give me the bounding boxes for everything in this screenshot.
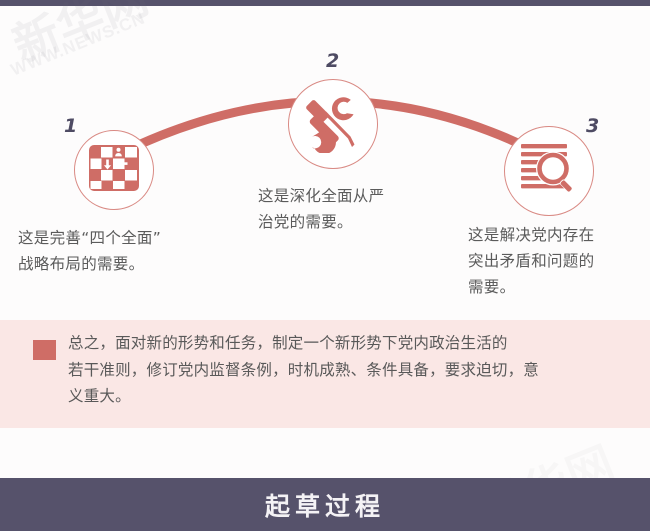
summary-text: 总之，面对新的形势和任务，制定一个新形势下党内政治生活的 若干准则，修订党内监督…: [68, 330, 628, 410]
watermark-brand-cn: 新华网: [2, 0, 157, 75]
watermark-brand-url: WWW.NEWS.CN: [8, 8, 148, 80]
node-1-caption: 这是完善“四个全面” 战略布局的需要。: [18, 225, 233, 277]
node-1-number: 1: [64, 117, 77, 136]
top-accent-bar: [0, 0, 650, 6]
node-2-caption: 这是深化全面从严 治党的需要。: [258, 183, 443, 235]
summary-panel: 总之，面对新的形势和任务，制定一个新形势下党内政治生活的 若干准则，修订党内监督…: [0, 320, 650, 428]
node-3-caption: 这是解决党内存在 突出矛盾和问题的 需要。: [468, 222, 643, 300]
node-3-number: 3: [586, 117, 599, 136]
node-1-circle: [74, 130, 154, 210]
banner-title: 起草过程: [265, 487, 385, 523]
bottom-banner: 起草过程: [0, 478, 650, 531]
chessboard-arrows-icon: [87, 141, 141, 200]
node-3-circle: [504, 126, 594, 216]
node-2-number: 2: [326, 52, 339, 71]
node-2-circle: [288, 79, 378, 169]
wrench-screwdriver-icon: [302, 91, 364, 158]
infographic-page: 新华网 WWW.NEWS.CN 新华网 WWW.NEWS.CN 新华网 1: [0, 0, 650, 531]
document-magnifier-icon: [518, 138, 580, 205]
red-square-bullet: [33, 340, 56, 360]
